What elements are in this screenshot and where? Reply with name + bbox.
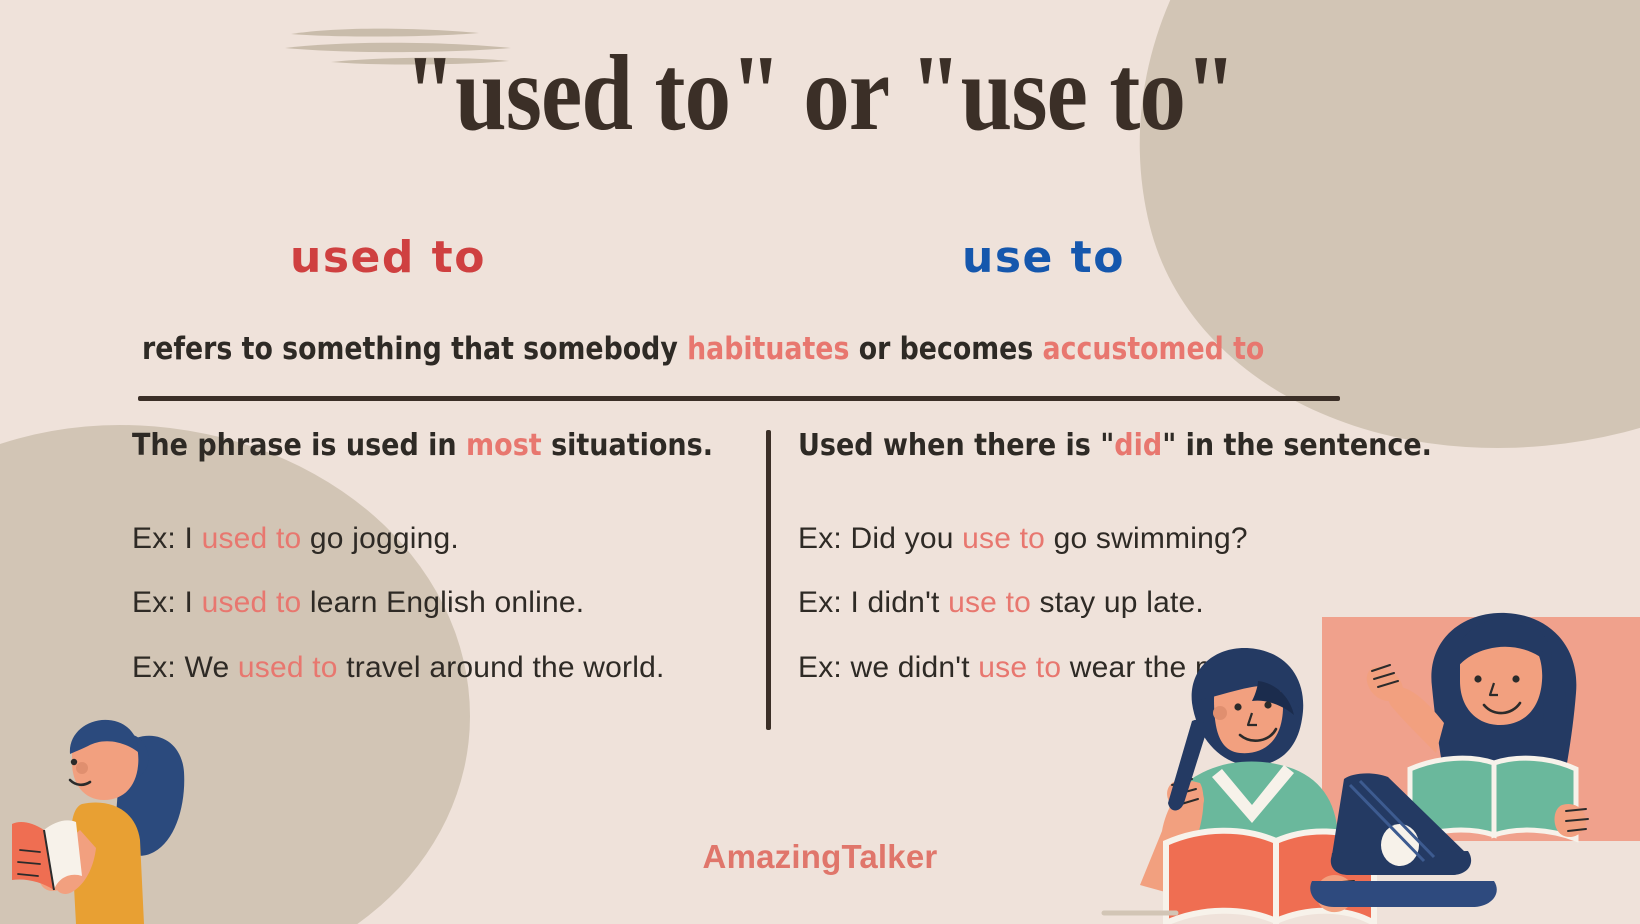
girl-reading-book-icon xyxy=(10,700,240,924)
shared-definition-text: refers to something that somebody habitu… xyxy=(142,330,1304,369)
left-example-3-post: travel around the world. xyxy=(338,651,665,684)
left-example-2-post: learn English online. xyxy=(301,586,584,619)
left-example-2-pre: Ex: I xyxy=(132,586,202,619)
left-example-2-highlight: used to xyxy=(202,586,302,619)
heading-used-to: used to xyxy=(290,232,486,283)
left-example-3-pre: Ex: We xyxy=(132,651,238,684)
heading-use-to: use to xyxy=(962,232,1125,283)
subtitle-highlight-habituates: habituates xyxy=(687,331,849,367)
horizontal-divider xyxy=(138,396,1340,401)
left-example-1-highlight: used to xyxy=(202,522,302,555)
right-example-2-highlight: use to xyxy=(948,586,1031,619)
left-statement-post: situations. xyxy=(542,428,713,463)
left-statement-highlight: most xyxy=(466,428,542,463)
subtitle-highlight-accustomed-to: accustomed to xyxy=(1043,331,1265,367)
right-statement-pre: Used when there is " xyxy=(798,428,1114,463)
subtitle-part-2: or becomes xyxy=(849,331,1042,367)
left-example-1: Ex: I used to go jogging. xyxy=(132,520,747,558)
right-example-1-pre: Ex: Did you xyxy=(798,522,962,555)
left-statement-pre: The phrase is used in xyxy=(132,428,466,463)
page-title: "used to" or "use to" xyxy=(115,40,1525,148)
left-column: The phrase is used in most situations. E… xyxy=(132,428,747,713)
left-example-3-highlight: used to xyxy=(238,651,338,684)
subtitle-part-1: refers to something that somebody xyxy=(142,331,687,367)
left-example-2: Ex: I used to learn English online. xyxy=(132,584,747,622)
boy-with-laptop-and-teacher-video-call-icon xyxy=(1080,595,1640,924)
left-example-1-post: go jogging. xyxy=(301,522,459,555)
right-example-2-pre: Ex: I didn't xyxy=(798,586,948,619)
right-example-1: Ex: Did you use to go swimming? xyxy=(798,520,1478,558)
left-example-1-pre: Ex: I xyxy=(132,522,202,555)
left-example-3: Ex: We used to travel around the world. xyxy=(132,649,747,687)
vertical-divider xyxy=(766,430,771,730)
infographic-page: "used to" or "use to" used to use to ref… xyxy=(0,0,1640,924)
right-example-3-highlight: use to xyxy=(978,651,1061,684)
right-statement-post: " in the sentence. xyxy=(1162,428,1432,463)
right-statement-highlight: did xyxy=(1114,428,1162,463)
right-example-1-post: go swimming? xyxy=(1045,522,1248,555)
left-column-statement: The phrase is used in most situations. xyxy=(132,428,747,464)
right-example-3-pre: Ex: we didn't xyxy=(798,651,978,684)
right-column-statement: Used when there is "did" in the sentence… xyxy=(798,428,1478,464)
right-example-1-highlight: use to xyxy=(962,522,1045,555)
